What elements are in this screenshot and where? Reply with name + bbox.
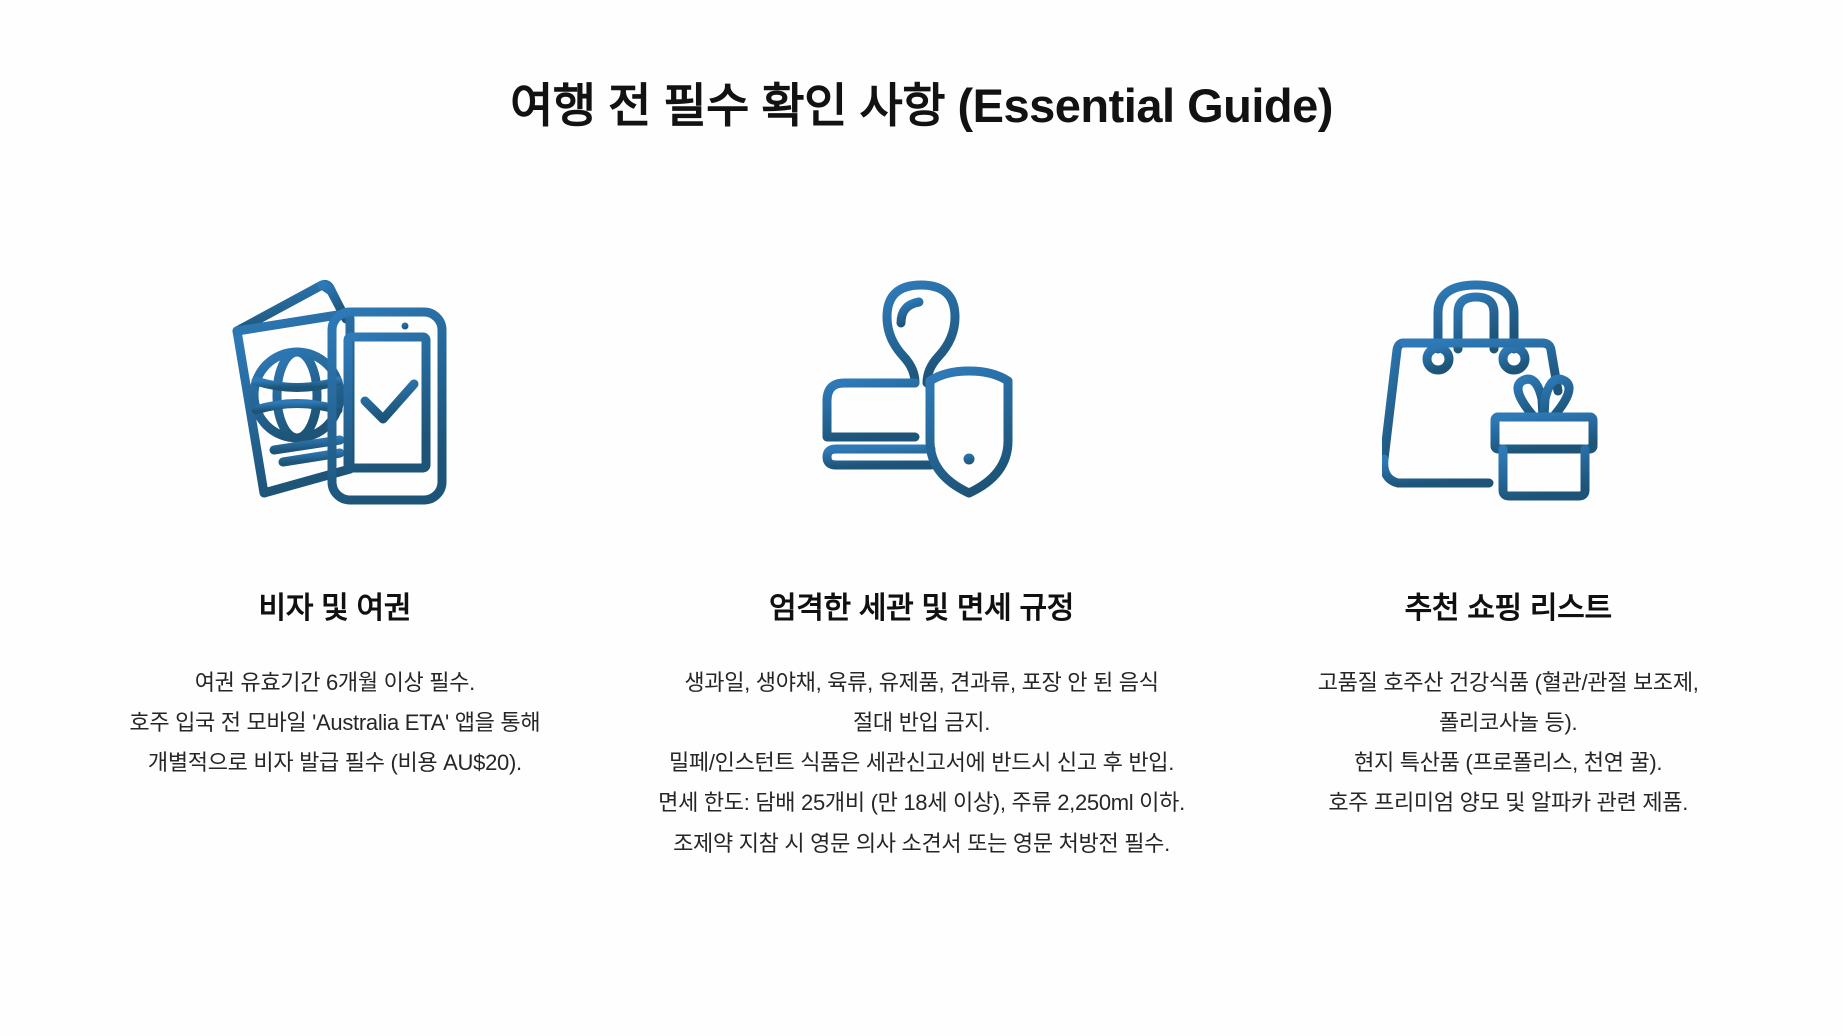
card-heading: 비자 및 여권 bbox=[259, 590, 412, 628]
card-body-text: 고품질 호주산 건강식품 (혈관/관절 보조제, 폴리코사놀 등). 현지 특산… bbox=[1318, 663, 1699, 823]
card-body-text: 생과일, 생야채, 육류, 유제품, 견과류, 포장 안 된 음식 절대 반입 … bbox=[658, 663, 1185, 863]
guide-card-row: 비자 및 여권 여권 유효기간 6개월 이상 필수. 호주 입국 전 모바일 '… bbox=[42, 242, 1802, 864]
guide-card-visa-passport: 비자 및 여권 여권 유효기간 6개월 이상 필수. 호주 입국 전 모바일 '… bbox=[42, 242, 629, 784]
card-heading: 엄격한 세관 및 면세 규정 bbox=[769, 590, 1074, 628]
passport-phone-check-icon bbox=[204, 242, 466, 532]
card-body-text: 여권 유효기간 6개월 이상 필수. 호주 입국 전 모바일 'Australi… bbox=[129, 663, 540, 783]
guide-card-customs-duty: 엄격한 세관 및 면세 규정 생과일, 생야채, 육류, 유제품, 견과류, 포… bbox=[628, 242, 1215, 864]
card-heading: 추천 쇼핑 리스트 bbox=[1405, 590, 1612, 628]
page-title: 여행 전 필수 확인 사항 (Essential Guide) bbox=[510, 78, 1333, 134]
essential-guide-page: 여행 전 필수 확인 사항 (Essential Guide) bbox=[0, 0, 1843, 1036]
shopping-bag-gift-icon bbox=[1382, 242, 1634, 532]
guide-card-shopping-list: 추천 쇼핑 리스트 고품질 호주산 건강식품 (혈관/관절 보조제, 폴리코사놀… bbox=[1215, 242, 1802, 824]
stamp-shield-alert-icon bbox=[797, 242, 1047, 532]
